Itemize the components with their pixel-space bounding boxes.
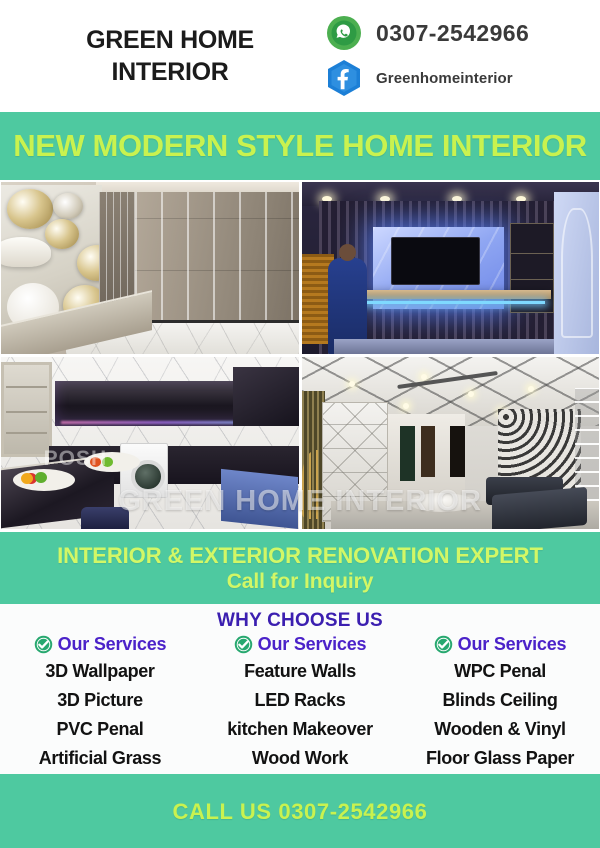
- list-item: Floor Glass Paper: [400, 744, 600, 773]
- list-item: Feature Walls: [200, 657, 400, 686]
- photo-tv-lounge-led-wall: [302, 182, 600, 354]
- list-item: kitchen Makeover: [200, 715, 400, 744]
- why-choose-us-heading: WHY CHOOSE US: [0, 610, 600, 632]
- facebook-page-name[interactable]: Greenhomeinterior: [376, 70, 513, 87]
- list-item: PVC Penal: [0, 715, 200, 744]
- whatsapp-icon[interactable]: [326, 15, 362, 51]
- list-item: 3D Wallpaper: [0, 657, 200, 686]
- photo-mirror-ceiling-lounge: [302, 357, 600, 529]
- brand-title: GREEN HOME INTERIOR: [20, 24, 320, 88]
- photo-collage: POSH GREEN HOME INTERIOR: [0, 180, 600, 532]
- list-item: 3D Picture: [0, 686, 200, 715]
- services-column-3-list: WPC Penal Blinds Ceiling Wooden & Vinyl …: [400, 657, 600, 774]
- facebook-contact-row[interactable]: Greenhomeinterior: [326, 59, 582, 97]
- services-section: WHY CHOOSE US Our Services 3D Wallpaper …: [0, 604, 600, 774]
- services-column-2: Our Services Feature Walls LED Racks kit…: [200, 634, 400, 774]
- services-column-1-list: 3D Wallpaper 3D Picture PVC Penal Artifi…: [0, 657, 200, 774]
- photo-3d-wallpaper-panel-room: [1, 182, 299, 354]
- services-column-3-header: Our Services: [434, 634, 567, 655]
- services-column-2-list: Feature Walls LED Racks kitchen Makeover…: [200, 657, 400, 774]
- headline-text: NEW MODERN STYLE HOME INTERIOR: [13, 128, 587, 164]
- call-to-action-footer[interactable]: CALL US 0307-2542966: [0, 774, 600, 848]
- whatsapp-number[interactable]: 0307-2542966: [376, 20, 529, 47]
- services-column-1-label: Our Services: [58, 634, 167, 655]
- services-column-1: Our Services 3D Wallpaper 3D Picture PVC…: [0, 634, 200, 774]
- services-column-1-header: Our Services: [34, 634, 167, 655]
- list-item: Artificial Grass: [0, 744, 200, 773]
- brand-line-1: GREEN HOME: [86, 26, 254, 54]
- whatsapp-contact-row[interactable]: 0307-2542966: [326, 15, 582, 51]
- services-column-3: Our Services WPC Penal Blinds Ceiling Wo…: [400, 634, 600, 774]
- services-column-2-label: Our Services: [258, 634, 367, 655]
- services-column-2-header: Our Services: [234, 634, 367, 655]
- contact-block: 0307-2542966 Greenhomeinterior: [320, 15, 582, 97]
- check-circle-icon: [34, 635, 53, 654]
- services-column-3-label: Our Services: [458, 634, 567, 655]
- call-us-text[interactable]: CALL US 0307-2542966: [173, 799, 428, 825]
- tagline-banner: INTERIOR & EXTERIOR RENOVATION EXPERT Ca…: [0, 532, 600, 604]
- tagline-line-2: Call for Inquiry: [227, 570, 374, 594]
- brand-line-2: INTERIOR: [20, 56, 320, 88]
- list-item: LED Racks: [200, 686, 400, 715]
- list-item: Blinds Ceiling: [400, 686, 600, 715]
- services-columns: Our Services 3D Wallpaper 3D Picture PVC…: [0, 634, 600, 774]
- list-item: WPC Penal: [400, 657, 600, 686]
- list-item: Wooden & Vinyl: [400, 715, 600, 744]
- tagline-line-1: INTERIOR & EXTERIOR RENOVATION EXPERT: [57, 543, 543, 569]
- check-circle-icon: [234, 635, 253, 654]
- list-item: Wood Work: [200, 744, 400, 773]
- photo-modern-kitchen: POSH: [1, 357, 299, 529]
- interior-services-poster: GREEN HOME INTERIOR 0307-2542966 G: [0, 0, 600, 848]
- header: GREEN HOME INTERIOR 0307-2542966 G: [0, 0, 600, 112]
- headline-banner: NEW MODERN STYLE HOME INTERIOR: [0, 112, 600, 180]
- facebook-icon[interactable]: [326, 59, 362, 97]
- check-circle-icon: [434, 635, 453, 654]
